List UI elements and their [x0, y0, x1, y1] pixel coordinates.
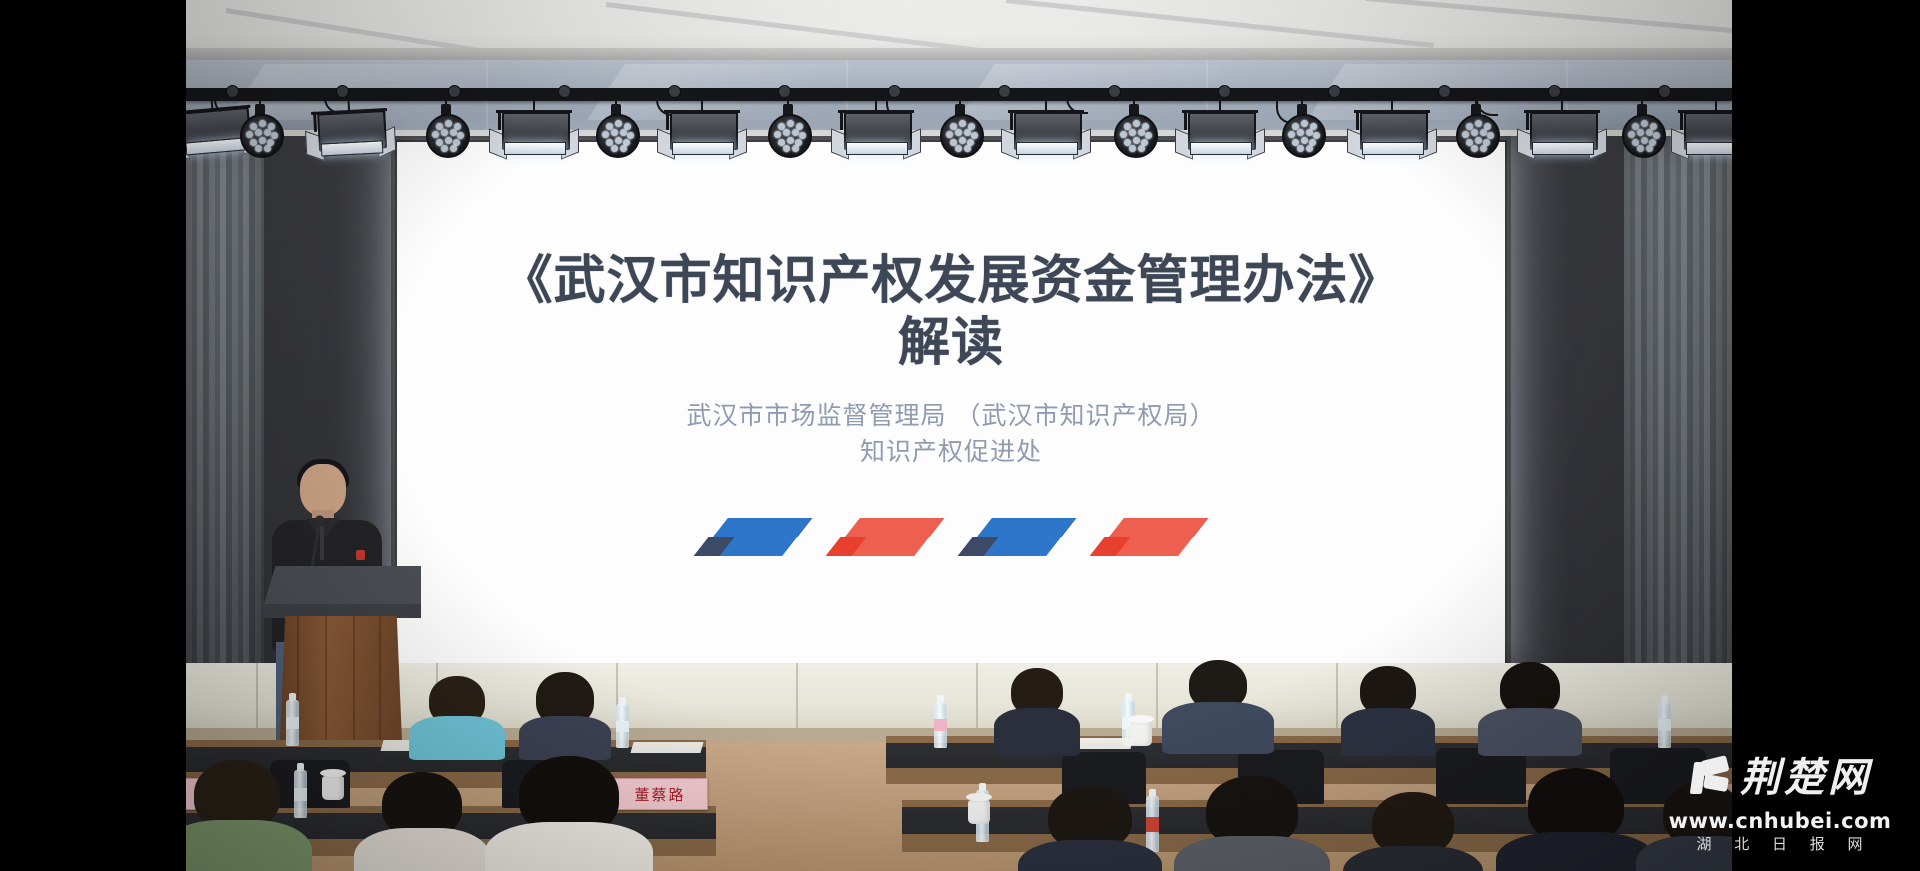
letterbox-left	[0, 0, 186, 871]
stage-light-par	[1110, 98, 1158, 156]
audience-member	[522, 672, 608, 746]
stage-light-par	[422, 98, 470, 156]
stage-light-fresnel	[664, 98, 740, 160]
ceiling	[186, 0, 1732, 62]
slide-title: 《武汉市知识产权发展资金管理办法》 解读	[397, 250, 1505, 374]
watermark-brand: 荆楚网	[1740, 756, 1872, 800]
water-bottle	[1658, 702, 1671, 748]
audience-member	[1026, 786, 1154, 871]
watermark-url: www.cnhubei.com	[1654, 809, 1906, 833]
slide-subtitle: 武汉市市场监督管理局 （武汉市知识产权局） 知识产权促进处	[397, 398, 1505, 470]
stage-light-par	[1278, 98, 1326, 156]
water-bottle	[616, 704, 629, 748]
logo-mark-red-2	[1095, 508, 1203, 566]
audience-member	[1182, 776, 1322, 871]
audience-member	[494, 756, 644, 871]
projection-screen: 《武汉市知识产权发展资金管理办法》 解读 武汉市市场监督管理局 （武汉市知识产权…	[397, 142, 1505, 663]
audience-member	[1166, 660, 1270, 748]
slide-subtitle-line1: 武汉市市场监督管理局 （武汉市知识产权局）	[397, 398, 1505, 434]
tea-cup	[1130, 722, 1152, 746]
letterbox-right	[1732, 0, 1920, 871]
tea-cup	[968, 800, 990, 824]
presentation-slide: 《武汉市知识产权发展资金管理办法》 解读 武汉市市场监督管理局 （武汉市知识产权…	[397, 142, 1505, 663]
audience-member	[1482, 662, 1578, 748]
stage-light-fresnel	[1182, 98, 1258, 160]
audience-member	[1344, 666, 1432, 748]
stage-light-par	[592, 98, 640, 156]
audience-member	[996, 668, 1078, 748]
watermark-tagline: 湖 北 日 报 网	[1654, 833, 1906, 855]
stage-light-fresnel	[310, 96, 389, 162]
conference-photo: 《武汉市知识产权发展资金管理办法》 解读 武汉市市场监督管理局 （武汉市知识产权…	[186, 0, 1732, 871]
slide-title-line1: 《武汉市知识产权发展资金管理办法》	[397, 250, 1505, 312]
cnhubei-leaf-icon	[1688, 756, 1732, 800]
stage-light-par	[1452, 98, 1500, 156]
audience-member	[186, 760, 302, 871]
audience-member	[1502, 768, 1650, 871]
water-bottle	[286, 700, 299, 746]
screenshot-root: 《武汉市知识产权发展资金管理办法》 解读 武汉市市场监督管理局 （武汉市知识产权…	[0, 0, 1920, 871]
water-bottle	[934, 702, 947, 748]
stage-light-par	[1618, 98, 1666, 156]
logo-mark-blue-2	[963, 508, 1071, 566]
podium	[261, 566, 421, 766]
stage-light-par	[936, 98, 984, 156]
audience-member	[362, 772, 482, 871]
slide-subtitle-line2: 知识产权促进处	[397, 434, 1505, 470]
logo-mark-blue-1	[699, 508, 807, 566]
stage-light-fresnel	[496, 98, 572, 160]
slide-title-line2: 解读	[397, 312, 1505, 374]
stage-light-fresnel	[1008, 98, 1084, 160]
document-paper	[630, 742, 703, 753]
audience-member	[412, 676, 502, 748]
stage-light-par	[764, 98, 812, 156]
stage-light-fresnel	[1354, 98, 1430, 160]
slide-logo-row	[397, 504, 1505, 570]
audience-member	[1350, 792, 1476, 871]
stage-light-fresnel	[838, 98, 914, 160]
stage-light-par	[236, 98, 284, 156]
logo-mark-red-1	[831, 508, 939, 566]
watermark: 荆楚网 www.cnhubei.com 湖 北 日 报 网	[1654, 747, 1906, 863]
tea-cup	[322, 776, 344, 800]
stage-light-fresnel	[1524, 98, 1600, 160]
stage-light-fresnel	[1678, 98, 1732, 160]
